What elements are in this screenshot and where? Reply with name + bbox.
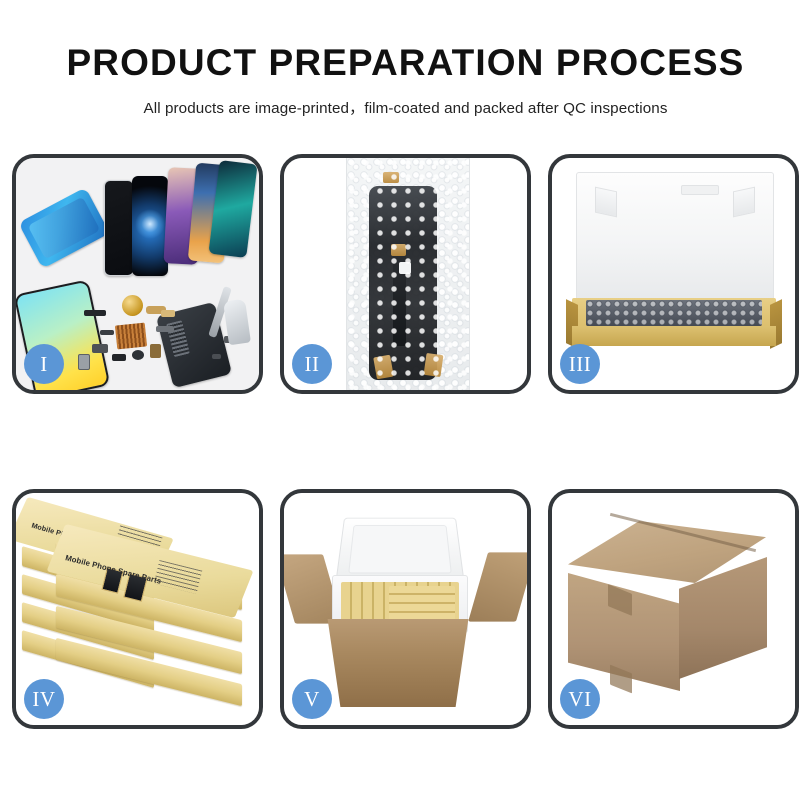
small-part-icon bbox=[132, 350, 144, 360]
small-part-icon bbox=[156, 326, 174, 332]
small-part-icon bbox=[212, 354, 221, 359]
process-step-card-2: II bbox=[280, 154, 531, 394]
lid-flap-right-icon bbox=[733, 187, 755, 218]
foam-lid-inner bbox=[348, 525, 452, 573]
step-badge-1: I bbox=[24, 344, 64, 384]
tape-strip-icon bbox=[383, 172, 399, 183]
step-badge-2: II bbox=[292, 344, 332, 384]
foam-lid-icon bbox=[335, 518, 464, 583]
small-part-icon bbox=[78, 354, 90, 370]
black-glass-panel-icon bbox=[104, 180, 134, 276]
tray-front-face bbox=[572, 326, 776, 346]
step-badge-6: VI bbox=[560, 679, 600, 719]
process-step-card-4: Mobile Phone Spare Parts Mobile Phone Sp… bbox=[12, 489, 263, 729]
cracked-display-icon bbox=[132, 176, 168, 276]
gold-coil-part-icon bbox=[122, 295, 143, 316]
gold-box-tray-icon bbox=[572, 298, 776, 346]
tape-strip-icon bbox=[424, 353, 444, 377]
page-subtitle: All products are image-printed，film-coat… bbox=[0, 96, 811, 118]
blue-adhesive-screen-icon bbox=[18, 187, 110, 269]
connector-chip-icon bbox=[399, 262, 411, 274]
process-step-card-5: V bbox=[280, 489, 531, 729]
process-step-card-3: III bbox=[548, 154, 799, 394]
repair-tool-icon bbox=[223, 299, 251, 346]
lid-tab-icon bbox=[681, 185, 719, 195]
small-part-icon bbox=[112, 354, 126, 361]
bubble-wrap-sheet-icon bbox=[346, 158, 470, 390]
page-title: PRODUCT PREPARATION PROCESS bbox=[0, 44, 811, 83]
process-step-card-1: I bbox=[12, 154, 263, 394]
process-step-card-6: VI bbox=[548, 489, 799, 729]
carton-body-icon bbox=[318, 619, 478, 707]
white-box-lid-icon bbox=[576, 172, 774, 308]
small-part-icon bbox=[92, 344, 108, 353]
step-badge-3: III bbox=[560, 344, 600, 384]
step-badge-4: IV bbox=[24, 679, 64, 719]
small-part-icon bbox=[150, 344, 161, 358]
small-part-icon bbox=[100, 330, 114, 335]
process-step-grid: I II bbox=[12, 154, 799, 729]
header: PRODUCT PREPARATION PROCESS All products… bbox=[0, 44, 811, 118]
small-part-icon bbox=[84, 310, 106, 316]
chip-array-icon bbox=[115, 322, 147, 349]
lid-flap-left-icon bbox=[595, 187, 617, 218]
small-part-icon bbox=[161, 310, 175, 317]
step-badge-5: V bbox=[292, 679, 332, 719]
gold-boxes-row-icon bbox=[389, 586, 455, 620]
bubble-wrapped-contents-icon bbox=[586, 300, 762, 326]
tape-strip-icon bbox=[391, 244, 406, 256]
product-preparation-process-infographic: PRODUCT PREPARATION PROCESS All products… bbox=[0, 0, 811, 811]
tape-strip-icon bbox=[373, 355, 394, 380]
carton-flap-right-icon bbox=[468, 552, 527, 621]
